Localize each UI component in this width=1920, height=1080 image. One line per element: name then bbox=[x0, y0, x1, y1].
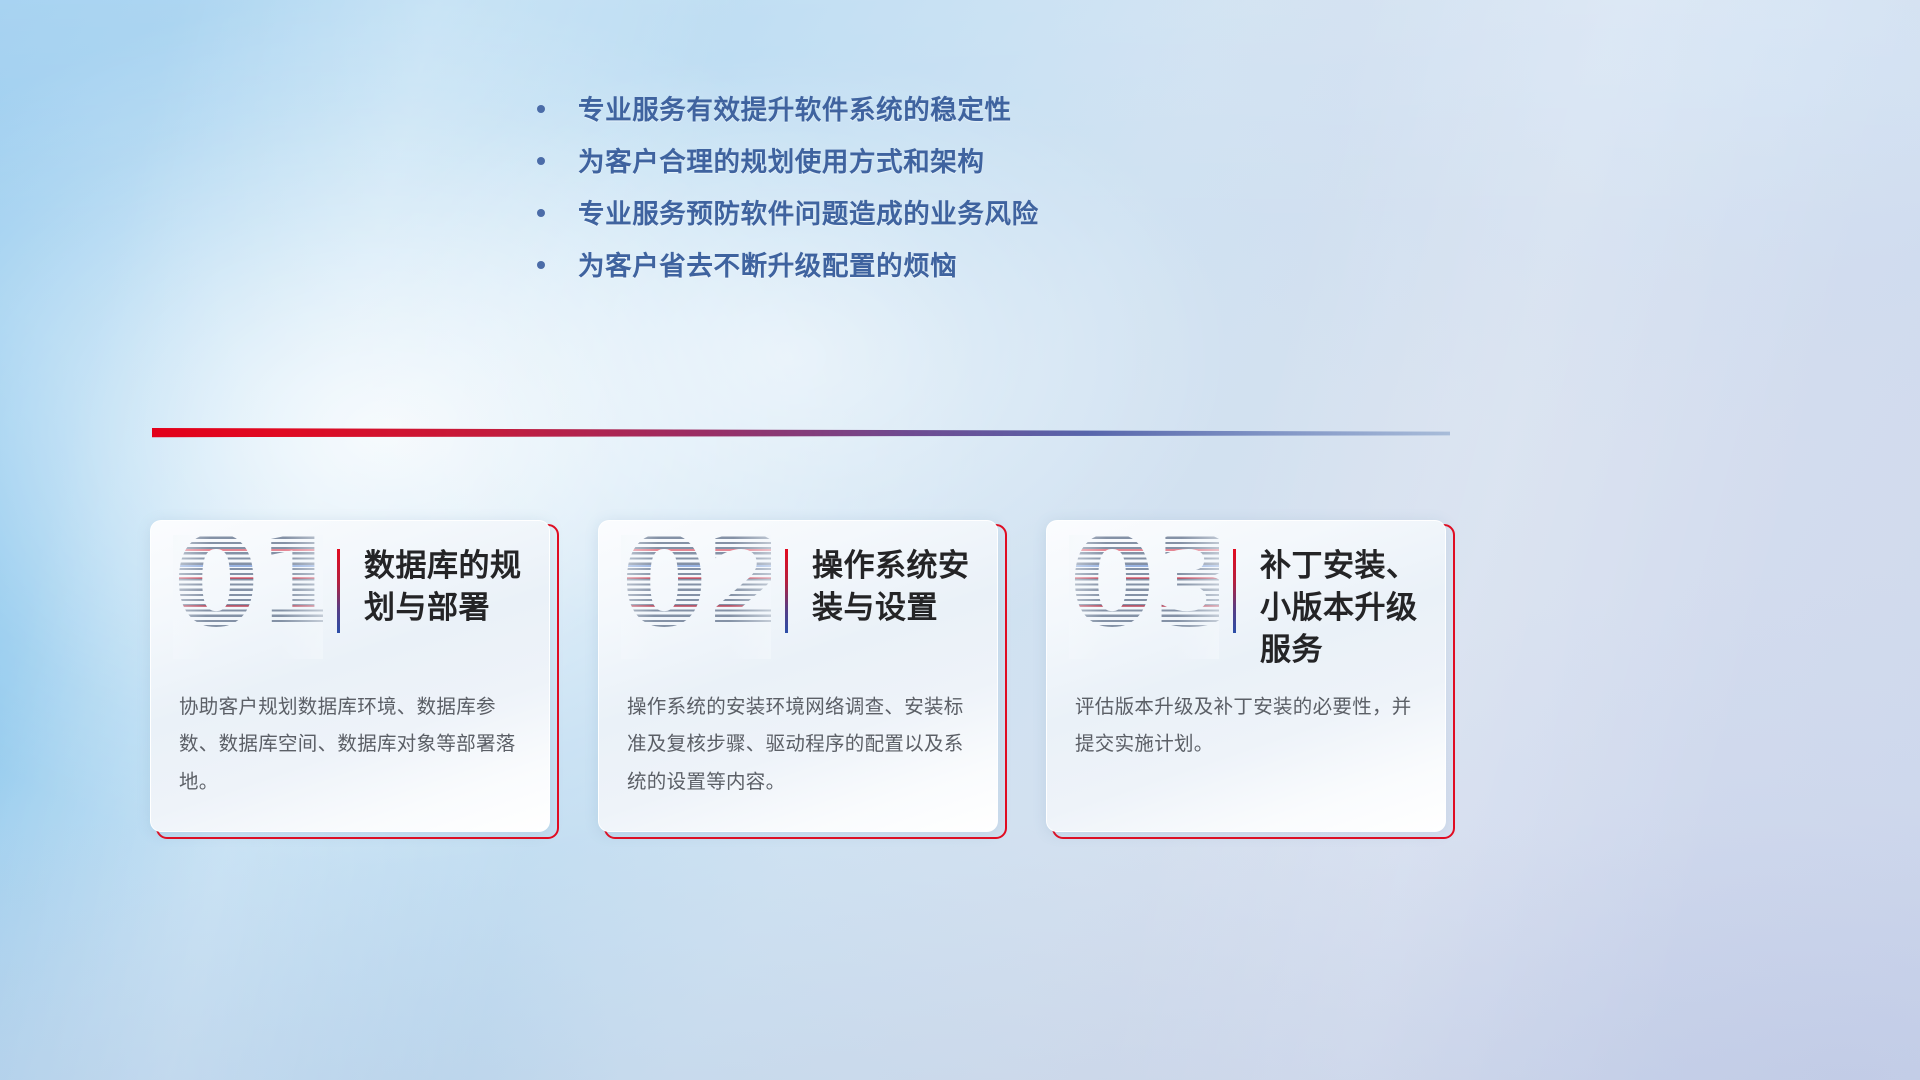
service-card[interactable]: 03 03 03 补丁安装、小版本升级服务 评估版本升级及补丁安装的必要性，并提… bbox=[1046, 520, 1449, 835]
card-description: 评估版本升级及补丁安装的必要性，并提交实施计划。 bbox=[1075, 689, 1427, 764]
card-description: 协助客户规划数据库环境、数据库参数、数据库空间、数据库对象等部署落地。 bbox=[179, 689, 531, 801]
card-title-block: 补丁安装、小版本升级服务 bbox=[1233, 545, 1436, 671]
card-number-blue-tint: 02 bbox=[621, 535, 771, 645]
card-number-blue-tint: 03 bbox=[1069, 535, 1219, 645]
title-accent-bar-icon bbox=[1233, 549, 1236, 633]
bullet-dot-icon bbox=[537, 157, 545, 165]
bullet-label: 为客户省去不断升级配置的烦恼 bbox=[578, 244, 957, 283]
list-item: 为客户合理的规划使用方式和架构 bbox=[537, 140, 1297, 192]
card-title: 数据库的规划与部署 bbox=[364, 545, 540, 629]
section-divider bbox=[150, 424, 1450, 440]
bullet-label: 专业服务有效提升软件系统的稳定性 bbox=[578, 88, 1012, 127]
service-card[interactable]: 02 02 02 操作系统安装与设置 操作系统的安装环境网络调查、安装标准及复核… bbox=[598, 520, 1001, 835]
card-surface: 01 01 01 数据库的规划与部署 协助客户规划数据库环境、数据库参数、数据库… bbox=[150, 520, 550, 832]
card-title-block: 数据库的规划与部署 bbox=[337, 545, 540, 633]
list-item: 专业服务有效提升软件系统的稳定性 bbox=[537, 88, 1297, 140]
title-accent-bar-icon bbox=[785, 549, 788, 633]
card-header: 02 02 02 操作系统安装与设置 bbox=[599, 521, 997, 673]
list-item: 专业服务预防软件问题造成的业务风险 bbox=[537, 192, 1297, 244]
card-number-watermark: 01 01 01 bbox=[173, 535, 323, 659]
card-surface: 02 02 02 操作系统安装与设置 操作系统的安装环境网络调查、安装标准及复核… bbox=[598, 520, 998, 832]
bullet-dot-icon bbox=[537, 105, 545, 113]
bullet-label: 为客户合理的规划使用方式和架构 bbox=[578, 140, 985, 179]
bullet-dot-icon bbox=[537, 209, 545, 217]
card-title-block: 操作系统安装与设置 bbox=[785, 545, 988, 633]
card-number-blue-tint: 01 bbox=[173, 535, 323, 645]
card-description: 操作系统的安装环境网络调查、安装标准及复核步骤、驱动程序的配置以及系统的设置等内… bbox=[627, 689, 979, 801]
card-title: 操作系统安装与设置 bbox=[812, 545, 988, 629]
card-title: 补丁安装、小版本升级服务 bbox=[1260, 545, 1436, 671]
card-surface: 03 03 03 补丁安装、小版本升级服务 评估版本升级及补丁安装的必要性，并提… bbox=[1046, 520, 1446, 832]
bullet-dot-icon bbox=[537, 261, 545, 269]
service-card[interactable]: 01 01 01 数据库的规划与部署 协助客户规划数据库环境、数据库参数、数据库… bbox=[150, 520, 553, 835]
card-header: 03 03 03 补丁安装、小版本升级服务 bbox=[1047, 521, 1445, 673]
card-header: 01 01 01 数据库的规划与部署 bbox=[151, 521, 549, 673]
card-number-watermark: 02 02 02 bbox=[621, 535, 771, 659]
card-number-watermark: 03 03 03 bbox=[1069, 535, 1219, 659]
title-accent-bar-icon bbox=[337, 549, 340, 633]
list-item: 为客户省去不断升级配置的烦恼 bbox=[537, 244, 1297, 296]
bullet-label: 专业服务预防软件问题造成的业务风险 bbox=[578, 192, 1039, 231]
divider-wedge-icon bbox=[150, 424, 1450, 440]
service-card-list: 01 01 01 数据库的规划与部署 协助客户规划数据库环境、数据库参数、数据库… bbox=[150, 520, 1450, 840]
benefits-bullet-list: 专业服务有效提升软件系统的稳定性 为客户合理的规划使用方式和架构 专业服务预防软… bbox=[537, 88, 1297, 296]
